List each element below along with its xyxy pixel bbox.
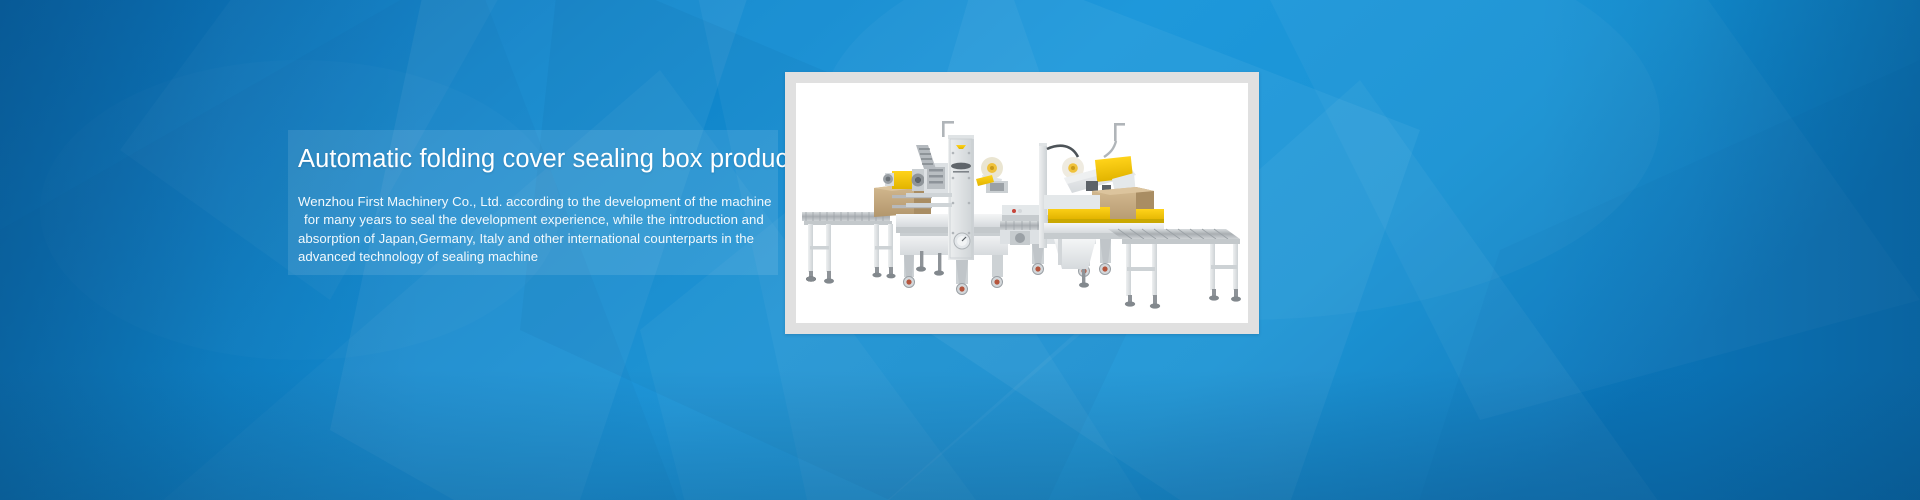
bottom-vignette xyxy=(0,370,1920,500)
description-paragraph: Wenzhou First Machinery Co., Ltd. accord… xyxy=(298,193,768,267)
product-photo xyxy=(796,83,1248,323)
description-line-4: advanced technology of sealing machine xyxy=(298,248,768,267)
product-photo-frame xyxy=(785,72,1259,334)
description-line-1: Wenzhou First Machinery Co., Ltd. accord… xyxy=(298,193,768,212)
page-title: Automatic folding cover sealing box prod… xyxy=(298,144,768,175)
description-line-2: for many years to seal the development e… xyxy=(298,211,768,230)
right-vignette xyxy=(1540,0,1920,500)
carton-sealing-machine-illustration xyxy=(796,83,1248,323)
description-line-3: absorption of Japan,Germany, Italy and o… xyxy=(298,230,768,249)
hero-text-block: Automatic folding cover sealing box prod… xyxy=(298,144,768,267)
hero-banner: Automatic folding cover sealing box prod… xyxy=(0,0,1920,500)
